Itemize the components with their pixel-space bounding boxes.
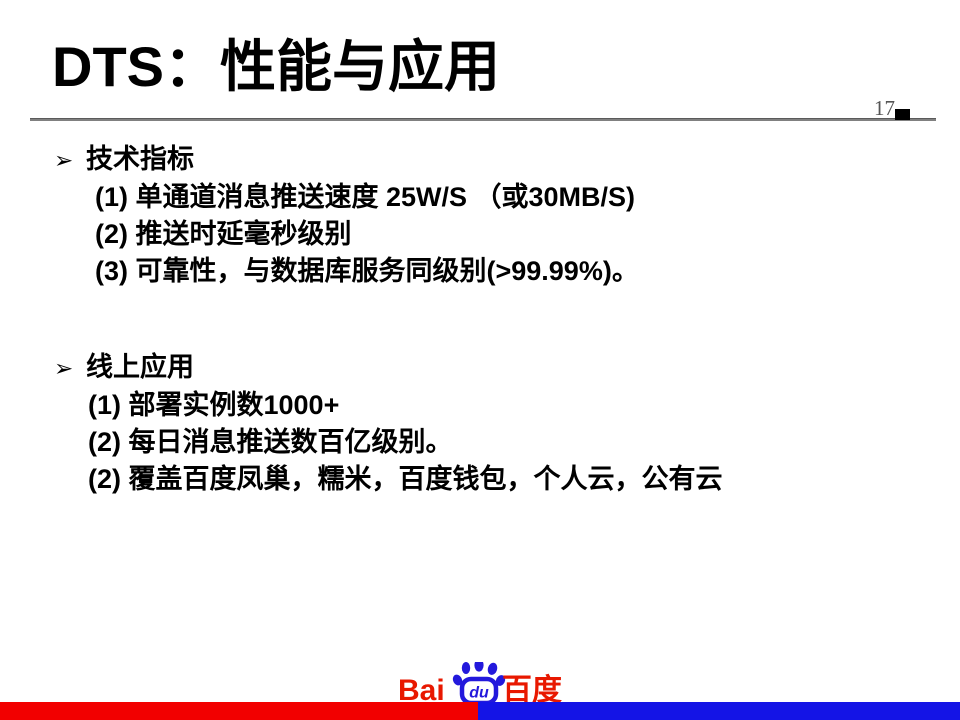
- section-spacer: [0, 316, 960, 350]
- arrow-bullet-icon: ➢: [54, 358, 86, 381]
- footer-bar: [0, 702, 960, 720]
- section-heading-label: 线上应用: [86, 350, 194, 385]
- page-number: 17: [855, 96, 895, 121]
- page-title: DTS：性能与应用: [52, 38, 500, 97]
- list-item: (1) 部署实例数1000+: [0, 387, 960, 424]
- baidu-logo-icon: du Bai 百度: [396, 662, 568, 706]
- baidu-logo: du Bai 百度: [396, 662, 568, 706]
- section-heading-row: ➢ 技术指标: [0, 142, 960, 177]
- section-online-applications: ➢ 线上应用 (1) 部署实例数1000+ (2) 每日消息推送数百亿级别。 (…: [0, 350, 960, 498]
- page-marker-square-icon: [895, 109, 910, 120]
- slide-canvas: DTS：性能与应用 17 ➢ 技术指标 (1) 单通道消息推送速度 25W/S …: [0, 0, 960, 720]
- list-item: (3) 可靠性，与数据库服务同级别(>99.99%)。: [0, 253, 960, 290]
- logo-du-text: du: [469, 685, 489, 702]
- section-heading-label: 技术指标: [86, 142, 194, 177]
- list-item: (1) 单通道消息推送速度 25W/S （或30MB/S): [0, 179, 960, 216]
- footer-bar-blue: [478, 702, 960, 720]
- section-technical-metrics: ➢ 技术指标 (1) 单通道消息推送速度 25W/S （或30MB/S) (2)…: [0, 142, 960, 290]
- list-item: (2) 推送时延毫秒级别: [0, 216, 960, 253]
- section-heading-row: ➢ 线上应用: [0, 350, 960, 385]
- list-item: (2) 覆盖百度凤巢，糯米，百度钱包，个人云，公有云: [0, 461, 960, 498]
- title-divider: [30, 118, 936, 121]
- footer-bar-red: [0, 702, 478, 720]
- list-item: (2) 每日消息推送数百亿级别。: [0, 424, 960, 461]
- arrow-bullet-icon: ➢: [54, 150, 86, 173]
- slide-body: ➢ 技术指标 (1) 单通道消息推送速度 25W/S （或30MB/S) (2)…: [0, 142, 960, 525]
